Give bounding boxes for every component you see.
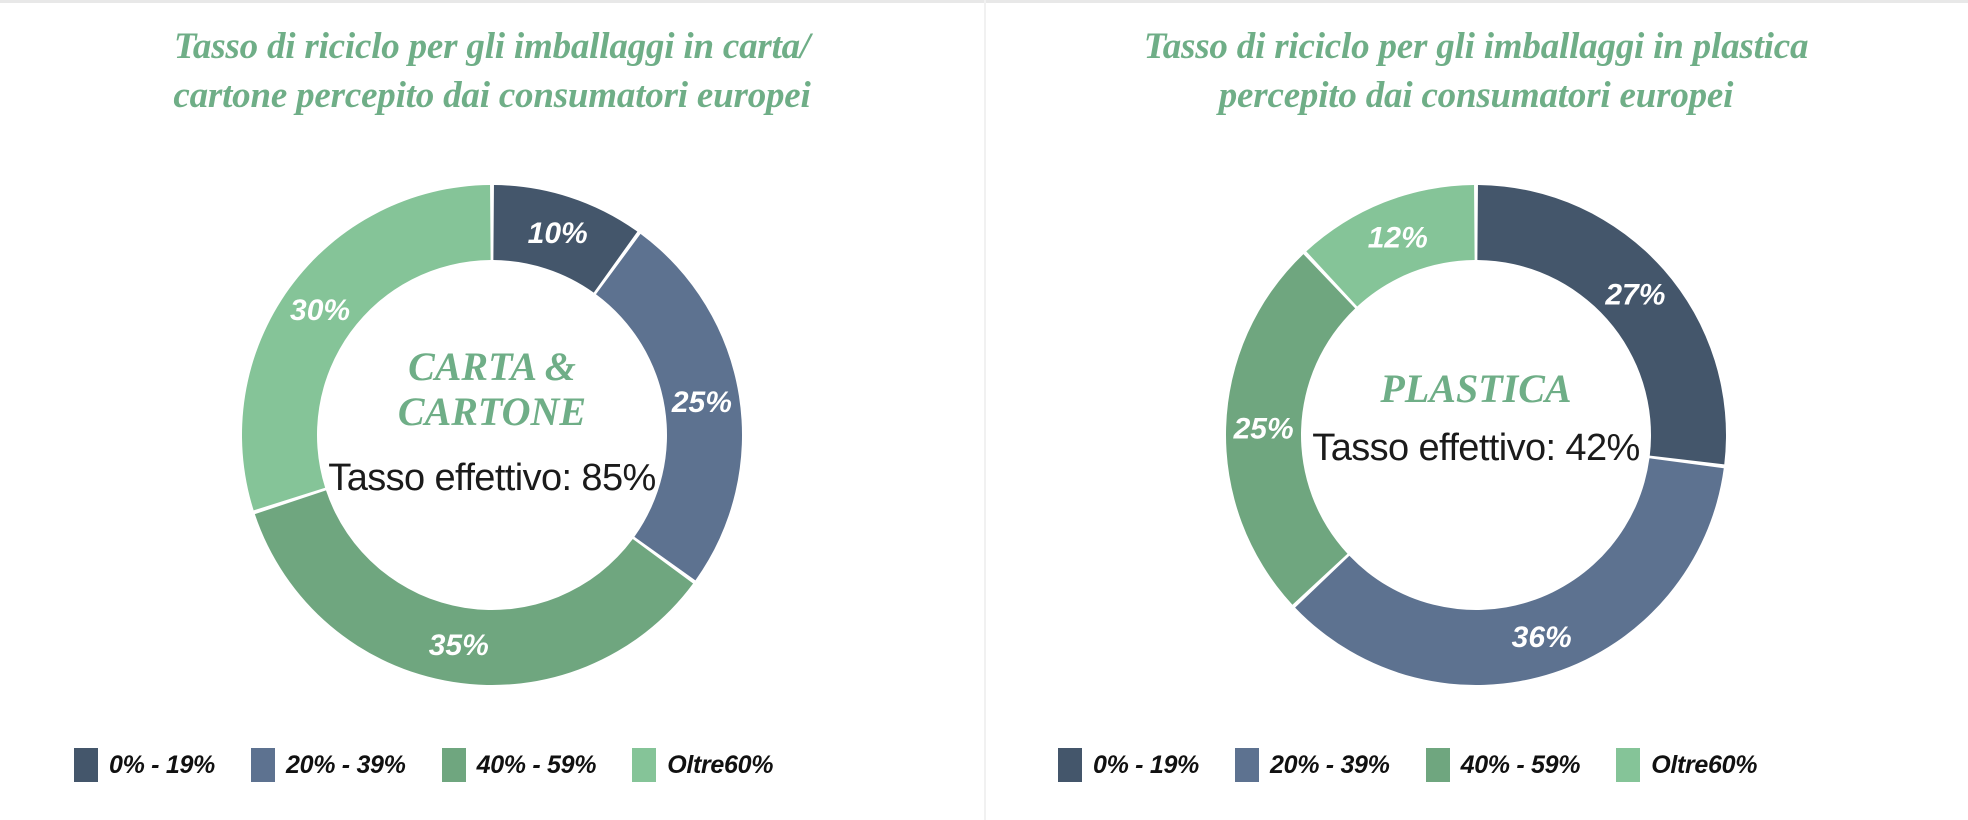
chart-panel-plastica: Tasso di riciclo per gli imballaggi in p… (984, 0, 1968, 820)
donut-center-rate-plastica: Tasso effettivo: 42% (1216, 427, 1736, 470)
legend-swatch-over-60 (632, 748, 656, 782)
legend-swatch-20-39 (251, 748, 275, 782)
legend-label-2: 40% - 59% (1461, 751, 1581, 780)
donut-segment-label-plastica-1: 36% (1512, 621, 1572, 654)
panel-container: Tasso di riciclo per gli imballaggi in c… (0, 0, 1968, 820)
donut-segment-label-plastica-0: 27% (1604, 278, 1665, 311)
donut-wrap-carta-cartone: 10%25%35%30% CARTA & CARTONE Tasso effet… (0, 155, 984, 735)
donut-segment-label-carta-cartone-0: 10% (528, 217, 588, 250)
donut-center-title-plastica: PLASTICA (1266, 367, 1686, 412)
donut-chart-carta-cartone: 10%25%35%30% (212, 155, 772, 715)
legend-label-0: 0% - 19% (109, 751, 215, 780)
legend-item-1[interactable]: 20% - 39% (1235, 748, 1390, 782)
legend-swatch-20-39 (1235, 748, 1259, 782)
legend-plastica: 0% - 19%20% - 39%40% - 59%Oltre60% (984, 748, 1968, 782)
legend-swatch-0-19 (1058, 748, 1082, 782)
legend-label-1: 20% - 39% (286, 751, 406, 780)
legend-item-2[interactable]: 40% - 59% (1426, 748, 1581, 782)
legend-label-3: Oltre60% (667, 751, 773, 780)
legend-item-0[interactable]: 0% - 19% (74, 748, 215, 782)
legend-item-1[interactable]: 20% - 39% (251, 748, 406, 782)
legend-label-2: 40% - 59% (477, 751, 597, 780)
donut-segment-plastica-1[interactable] (1295, 458, 1724, 685)
legend-label-3: Oltre60% (1651, 751, 1757, 780)
legend-swatch-40-59 (442, 748, 466, 782)
donut-center-rate-carta-cartone: Tasso effettivo: 85% (232, 457, 752, 500)
donut-segment-plastica-0[interactable] (1477, 185, 1726, 464)
legend-item-0[interactable]: 0% - 19% (1058, 748, 1199, 782)
legend-carta-cartone: 0% - 19%20% - 39%40% - 59%Oltre60% (0, 748, 984, 782)
donut-segment-label-carta-cartone-3: 30% (290, 294, 350, 327)
legend-swatch-over-60 (1616, 748, 1640, 782)
legend-item-3[interactable]: Oltre60% (1616, 748, 1757, 782)
chart-title-carta-cartone: Tasso di riciclo per gli imballaggi in c… (0, 22, 984, 120)
legend-label-1: 20% - 39% (1270, 751, 1390, 780)
chart-panel-carta-cartone: Tasso di riciclo per gli imballaggi in c… (0, 0, 984, 820)
legend-swatch-40-59 (1426, 748, 1450, 782)
legend-swatch-0-19 (74, 748, 98, 782)
donut-segment-label-plastica-3: 12% (1368, 221, 1428, 254)
donut-segment-label-carta-cartone-2: 35% (429, 629, 489, 662)
legend-item-3[interactable]: Oltre60% (632, 748, 773, 782)
donut-center-title-carta-cartone: CARTA & CARTONE (282, 345, 702, 435)
legend-item-2[interactable]: 40% - 59% (442, 748, 597, 782)
chart-title-plastica: Tasso di riciclo per gli imballaggi in p… (984, 22, 1968, 120)
infographic-page: Tasso di riciclo per gli imballaggi in c… (0, 0, 1968, 820)
donut-wrap-plastica: 27%36%25%12% PLASTICA Tasso effettivo: 4… (984, 155, 1968, 735)
legend-label-0: 0% - 19% (1093, 751, 1199, 780)
